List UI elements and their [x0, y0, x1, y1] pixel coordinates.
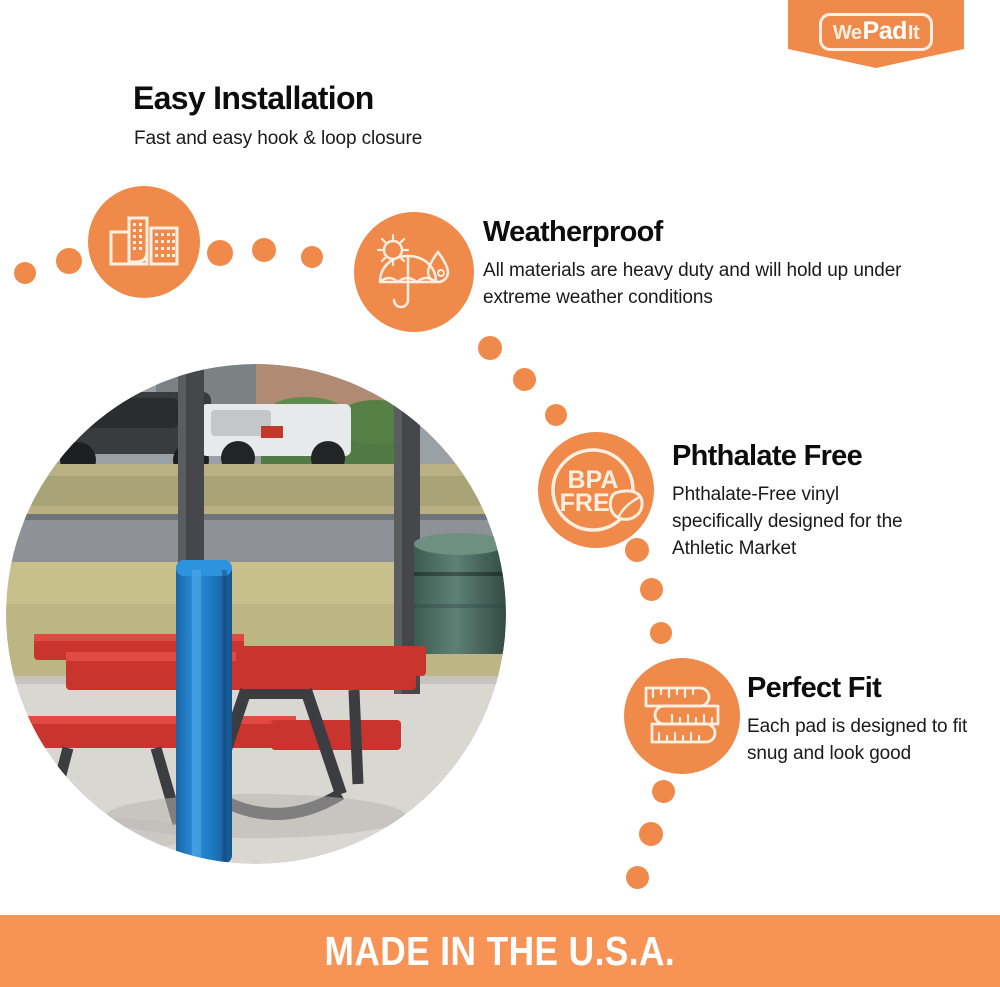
trail-dot — [56, 248, 82, 274]
logo-text-it: It — [908, 23, 919, 43]
feature-title-weatherproof: Weatherproof — [483, 216, 663, 249]
logo-text-pad: Pad — [863, 19, 907, 44]
measuring-tape-icon — [638, 672, 726, 760]
product-photo — [6, 364, 506, 864]
brand-logo-box: We Pad It — [819, 13, 933, 51]
trail-dot — [640, 578, 663, 601]
trail-dot — [478, 336, 502, 360]
feature-icon-circle-phthalate-free: BPA FREE — [538, 432, 654, 548]
trail-dot — [545, 404, 567, 426]
logo-text-we: We — [833, 23, 862, 43]
trail-dot — [513, 368, 536, 391]
umbrella-sun-raindrop-icon — [372, 232, 456, 312]
feature-description-perfect-fit: Each pad is designed to fit snug and loo… — [747, 714, 972, 768]
trail-dot — [14, 262, 36, 284]
feature-icon-circle-perfect-fit — [624, 658, 740, 774]
trail-dot — [626, 866, 649, 889]
feature-description-easy-installation: Fast and easy hook & loop closure — [134, 126, 422, 153]
bpa-free-leaf-icon: BPA FREE — [543, 437, 649, 543]
trail-dot — [625, 538, 649, 562]
trail-dot — [652, 780, 675, 803]
infographic-page: We Pad It Easy Installation Fast and eas… — [0, 0, 1000, 987]
made-in-usa-banner: MADE IN THE U.S.A. — [0, 915, 1000, 987]
feature-icon-circle-weatherproof — [354, 212, 474, 332]
feature-description-weatherproof: All materials are heavy duty and will ho… — [483, 258, 903, 312]
trail-dot — [207, 240, 233, 266]
brand-logo-banner: We Pad It — [788, 0, 964, 68]
hook-and-loop-icon — [107, 212, 181, 272]
feature-title-perfect-fit: Perfect Fit — [747, 672, 881, 705]
trail-dot — [639, 822, 663, 846]
feature-icon-circle-easy-installation — [88, 186, 200, 298]
trail-dot — [301, 246, 323, 268]
feature-title-phthalate-free: Phthalate Free — [672, 440, 862, 473]
feature-title-easy-installation: Easy Installation — [133, 80, 374, 117]
feature-description-phthalate-free: Phthalate-Free vinyl specifically design… — [672, 482, 932, 563]
made-in-usa-text: MADE IN THE U.S.A. — [325, 928, 676, 975]
trail-dot — [252, 238, 276, 262]
trail-dot — [650, 622, 672, 644]
